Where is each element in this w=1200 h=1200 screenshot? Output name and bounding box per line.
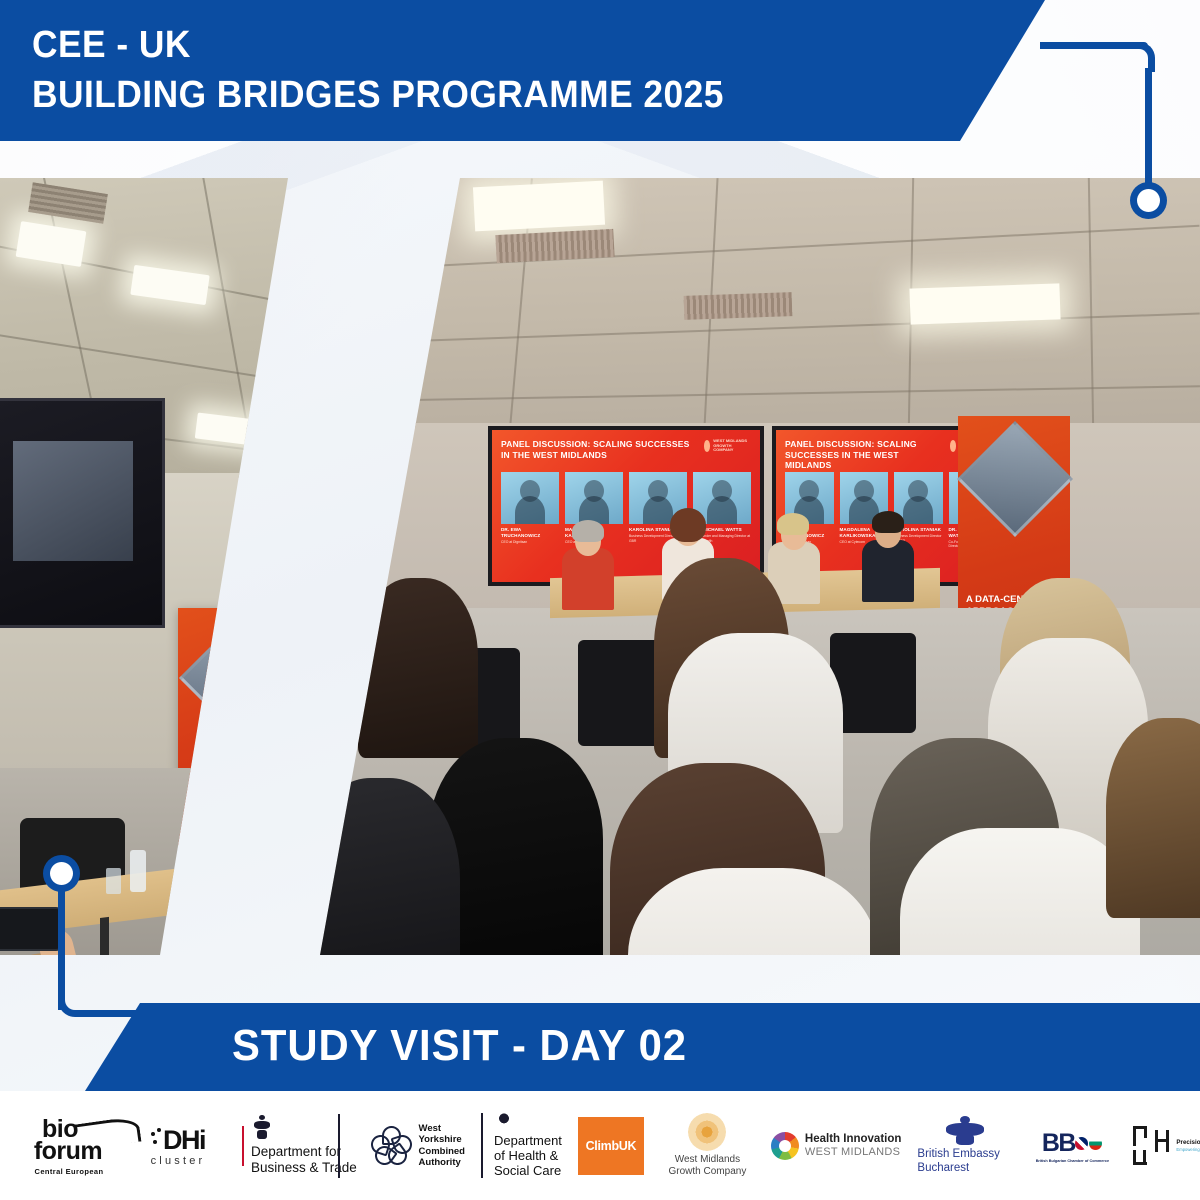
speaker-headshot bbox=[565, 472, 623, 524]
slide-logo-label: WEST MIDLANDS GROWTH COMPANY bbox=[713, 439, 752, 452]
header-title-line1: CEE - UK bbox=[32, 24, 974, 67]
logo-british-embassy-bucharest: British Embassy Bucharest bbox=[917, 1116, 1013, 1176]
bottom-banner-label: STUDY VISIT - DAY 02 bbox=[232, 1021, 687, 1071]
logo-dhi-mark: DHi bbox=[151, 1125, 205, 1156]
logo-bbcc-mark: BB bbox=[1042, 1129, 1103, 1158]
audience-member bbox=[358, 578, 478, 758]
header-banner: CEE - UK BUILDING BRIDGES PROGRAMME 2025 bbox=[0, 0, 1045, 141]
logo-bioforum: bio forum Central European bbox=[6, 1115, 114, 1176]
logo-dbt-line1: Department for bbox=[251, 1144, 357, 1160]
yorkshire-rose-icon bbox=[372, 1126, 412, 1166]
logo-climbuk-label: ClimbUK bbox=[586, 1139, 637, 1153]
logo-dhsc: Department of Health & Social Care bbox=[481, 1113, 562, 1179]
logo-dhsc-line2: of Health & bbox=[494, 1148, 562, 1163]
slide-logo: WEST MIDLANDS GROWTH COMPANY bbox=[704, 439, 752, 453]
logo-dhsc-text: Department of Health & Social Care bbox=[494, 1133, 562, 1179]
logo-phta-line2: Empowering health innovation bbox=[1176, 1147, 1200, 1152]
uk-flag-icon bbox=[1075, 1137, 1088, 1150]
rollup-diamond-image bbox=[179, 613, 309, 743]
logo-health-innovation-west-midlands: Health Innovation WEST MIDLANDS bbox=[771, 1132, 901, 1160]
logo-bbcc-sub: British Bulgarian Chamber of Commerce bbox=[1036, 1159, 1109, 1163]
logo-wyca-line4: Authority bbox=[419, 1157, 465, 1168]
logo-dbt-text: Department for Business & Trade bbox=[251, 1144, 357, 1176]
audience-member bbox=[900, 828, 1140, 955]
slide-speaker-card: DR. EWA TRUCHANOWICZ CEO at Dignitsan bbox=[501, 472, 559, 544]
logo-wyca-line3: Combined bbox=[419, 1146, 465, 1157]
microphone-icon bbox=[284, 738, 302, 773]
logo-be-line2: Bucharest bbox=[917, 1162, 1013, 1176]
photo-collage: A DATA-CENTRED APPROACH TO DIAGNOSTICS, … bbox=[0, 178, 1200, 955]
speaker-headshot bbox=[501, 472, 559, 524]
chair bbox=[578, 640, 664, 746]
bulgaria-flag-icon bbox=[1089, 1137, 1102, 1150]
photo-right-panel: PANEL DISCUSSION: SCALING SUCCESSES IN T… bbox=[310, 178, 1200, 955]
dots-icon bbox=[151, 1128, 163, 1152]
logo-hiwm-text: Health Innovation WEST MIDLANDS bbox=[805, 1133, 901, 1159]
audience-member bbox=[310, 778, 460, 955]
logo-wmgc-line1: West Midlands bbox=[669, 1154, 747, 1167]
logo-west-yorkshire-combined-authority: West Yorkshire Combined Authority bbox=[372, 1123, 465, 1168]
slide-title: PANEL DISCUSSION: SCALING SUCCESSES IN T… bbox=[785, 439, 946, 471]
connector-bottom-left bbox=[40, 855, 260, 1045]
partner-logo-bar: bio forum Central European DHi cluster bbox=[0, 1091, 1200, 1200]
logo-dbt: Department for Business & Trade bbox=[242, 1115, 357, 1176]
speaker-name: DR. EWA TRUCHANOWICZ bbox=[501, 527, 559, 538]
ceiling-lamp bbox=[16, 221, 87, 267]
logo-hiwm-line1: Health Innovation bbox=[805, 1133, 901, 1146]
logo-wmgc-line2: Growth Company bbox=[669, 1166, 747, 1179]
wall-display-screen bbox=[0, 398, 165, 628]
connector-dot-icon bbox=[1130, 182, 1167, 219]
logo-dhsc-line1: Department bbox=[494, 1133, 562, 1148]
logo-dbt-rule bbox=[242, 1126, 244, 1166]
logo-dhi-cluster: DHi cluster bbox=[132, 1125, 224, 1167]
logo-bar-divider bbox=[338, 1114, 340, 1178]
header-title-line2: BUILDING BRIDGES PROGRAMME 2025 bbox=[32, 73, 974, 118]
logo-dhsc-rule bbox=[481, 1113, 483, 1179]
phta-monogram-icon bbox=[1131, 1124, 1171, 1168]
logo-dhi-sub: cluster bbox=[151, 1155, 206, 1167]
logo-dbt-line2: Business & Trade bbox=[251, 1160, 357, 1176]
ceiling-vent bbox=[28, 182, 108, 224]
logo-dhi-text: DHi bbox=[163, 1125, 205, 1156]
speaker-role: CEO at Dignitsan bbox=[501, 540, 559, 544]
logo-phta-text: Precision Health Technologies Accelerato… bbox=[1176, 1139, 1200, 1153]
royal-crest-icon bbox=[251, 1115, 273, 1142]
logo-wyca-line1: West bbox=[419, 1123, 465, 1134]
logo-be-text: British Embassy Bucharest bbox=[917, 1148, 1013, 1176]
ceiling-lamp bbox=[130, 265, 209, 305]
logo-phta-line1: Precision Health Technologies Accelerato… bbox=[1176, 1139, 1200, 1147]
slide-speaker-list: DR. EWA TRUCHANOWICZ CEO at Dignitsan MA… bbox=[501, 472, 751, 544]
logo-phta: Precision Health Technologies Accelerato… bbox=[1131, 1124, 1200, 1168]
color-ring-icon bbox=[771, 1132, 799, 1160]
connector-top-right bbox=[1040, 42, 1170, 217]
logo-bioforum-line1: bio bbox=[42, 1115, 78, 1144]
logo-wmgc-text: West Midlands Growth Company bbox=[669, 1154, 747, 1179]
screen-image bbox=[13, 441, 133, 561]
logo-wyca-line2: Yorkshire bbox=[419, 1134, 465, 1145]
sunburst-icon bbox=[688, 1113, 726, 1151]
logo-west-midlands-growth-company: West Midlands Growth Company bbox=[660, 1113, 755, 1179]
logo-hiwm-line2: WEST MIDLANDS bbox=[805, 1146, 901, 1159]
royal-crest-icon bbox=[494, 1113, 514, 1131]
logo-climbuk: ClimbUK bbox=[578, 1117, 644, 1175]
logo-bioforum-sub: Central European bbox=[35, 1167, 104, 1176]
slide-title: PANEL DISCUSSION: SCALING SUCCESSES IN T… bbox=[501, 439, 700, 460]
audience-member bbox=[1106, 718, 1200, 918]
logo-be-line1: British Embassy bbox=[917, 1148, 1013, 1162]
rollup-diamond-image bbox=[957, 421, 1073, 537]
slide-speaker-card: KAROLINA STANIAK Business Development Di… bbox=[894, 472, 943, 549]
connector-horizontal-segment bbox=[84, 1010, 189, 1017]
royal-coat-of-arms-icon bbox=[942, 1116, 988, 1146]
logo-group-secondary: West Yorkshire Combined Authority Depart… bbox=[356, 1110, 1200, 1182]
logo-wyca-text: West Yorkshire Combined Authority bbox=[419, 1123, 465, 1168]
logo-bbcc: BB British Bulgarian Chamber of Commerce bbox=[1029, 1129, 1115, 1163]
logo-group-primary: bio forum Central European DHi cluster bbox=[0, 1110, 322, 1182]
connector-vertical-segment bbox=[1145, 68, 1152, 196]
logo-dhsc-line3: Social Care bbox=[494, 1163, 562, 1178]
